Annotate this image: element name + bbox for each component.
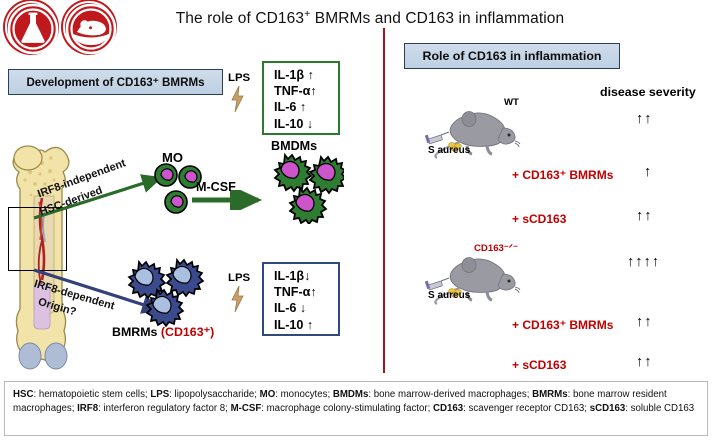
cytokine-name: IL-10 bbox=[274, 117, 303, 131]
severity-arrows-row-6: ↑↑ bbox=[636, 354, 653, 370]
severity-label-row-5: + CD163⁺ BMRMs bbox=[512, 318, 613, 332]
cytokine-row: IL-10 ↑ bbox=[274, 317, 330, 333]
s-aureus-label-ko: S aureus bbox=[428, 290, 470, 301]
right-banner-label: Role of CD163 in inflammation bbox=[423, 49, 602, 63]
cytokine-arrow: ↓ bbox=[307, 117, 313, 131]
cytokine-row: IL-6 ↓ bbox=[274, 300, 330, 316]
left-panel-banner: Development of CD163⁺ BMRMs bbox=[8, 69, 223, 95]
mouse-logo-icon bbox=[63, 1, 115, 53]
severity-label-row-6: + sCD163 bbox=[512, 358, 566, 372]
cytokine-arrow: ↓ bbox=[300, 301, 306, 315]
severity-label-row-3: + sCD163 bbox=[512, 212, 566, 226]
disease-severity-header: disease severity bbox=[600, 85, 696, 99]
severity-arrows-row-5: ↑↑ bbox=[636, 314, 653, 330]
bmrms-cd163-marker: (CD163⁺) bbox=[161, 325, 214, 339]
abbreviation-legend: HSC: hematopoietic stem cells; LPS: lipo… bbox=[4, 381, 708, 436]
lps-label-top: LPS bbox=[228, 72, 250, 84]
flask-logo-icon bbox=[5, 1, 57, 53]
figure-title: The role of CD163+ BMRMs and CD163 in in… bbox=[160, 8, 580, 28]
title-pre: The role of CD163 bbox=[176, 10, 304, 27]
bmrms-text: BMRMs bbox=[112, 325, 157, 339]
bmrms-label: BMRMs (CD163⁺) bbox=[112, 324, 214, 339]
journal-logos bbox=[2, 1, 118, 53]
severity-arrows-row-2: ↑ bbox=[644, 164, 652, 180]
bmrm-cytokine-box: IL-1β↓ TNF-α↑ IL-6 ↓ IL-10 ↑ bbox=[262, 262, 340, 336]
title-post: BMRMs and CD163 in inflammation bbox=[310, 10, 564, 27]
s-aureus-label-wt: S aureus bbox=[428, 145, 470, 156]
m-csf-label: M-CSF bbox=[196, 180, 236, 194]
cytokine-name: TNF-α bbox=[274, 84, 310, 98]
cytokine-name: IL-6 bbox=[274, 301, 296, 315]
severity-arrows-row-1: ↑↑ bbox=[636, 111, 653, 127]
cytokine-row: TNF-α↑ bbox=[274, 83, 330, 99]
syringe-icon bbox=[425, 278, 449, 290]
bmdm-cluster bbox=[266, 152, 344, 224]
cytokine-row: IL-1β ↑ bbox=[274, 67, 330, 83]
left-banner-label: Development of CD163⁺ BMRMs bbox=[26, 75, 204, 89]
figure-root: The role of CD163+ BMRMs and CD163 in in… bbox=[0, 0, 712, 441]
severity-arrows-row-3: ↑↑ bbox=[636, 208, 653, 224]
bmdms-label: BMDMs bbox=[271, 139, 317, 153]
flask-icon bbox=[7, 3, 59, 55]
cytokine-name: IL-10 bbox=[274, 318, 303, 332]
cytokine-name: IL-1β bbox=[274, 269, 304, 283]
cytokine-row: TNF-α↑ bbox=[274, 284, 330, 300]
cytokine-arrow: ↑ bbox=[310, 84, 316, 98]
cytokine-row: IL-10 ↓ bbox=[274, 116, 330, 132]
lightning-bolt-icon-top bbox=[231, 86, 244, 112]
panel-divider bbox=[383, 28, 385, 373]
cytokine-row: IL-1β↓ bbox=[274, 268, 330, 284]
bmrm-cluster bbox=[125, 258, 213, 328]
cytokine-name: IL-1β bbox=[274, 68, 304, 82]
right-panel-banner: Role of CD163 in inflammation bbox=[404, 43, 620, 69]
cytokine-row: IL-6 ↑ bbox=[274, 99, 330, 115]
lps-label-bottom: LPS bbox=[228, 272, 250, 284]
cytokine-name: TNF-α bbox=[274, 285, 310, 299]
cytokine-arrow: ↑ bbox=[310, 285, 316, 299]
mouse-icon bbox=[65, 3, 117, 55]
severity-label-row-2: + CD163⁺ BMRMs bbox=[512, 168, 613, 182]
cytokine-arrow: ↓ bbox=[304, 269, 310, 283]
cytokine-arrow: ↑ bbox=[307, 318, 313, 332]
cytokine-arrow: ↑ bbox=[308, 68, 314, 82]
severity-arrows-row-4: ↑↑↑↑ bbox=[627, 254, 660, 270]
syringe-icon bbox=[425, 132, 449, 144]
bmdm-cytokine-box: IL-1β ↑ TNF-α↑ IL-6 ↑ IL-10 ↓ bbox=[262, 61, 340, 135]
cytokine-arrow: ↑ bbox=[300, 100, 306, 114]
lightning-bolt-icon-bottom bbox=[231, 286, 244, 312]
legend-text: HSC: hematopoietic stem cells; LPS: lipo… bbox=[13, 389, 694, 414]
cytokine-name: IL-6 bbox=[274, 100, 296, 114]
